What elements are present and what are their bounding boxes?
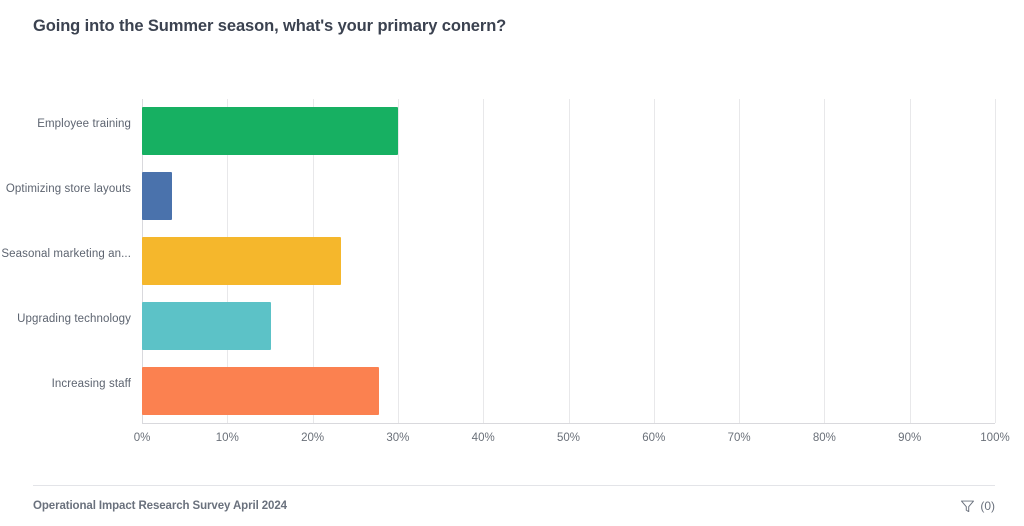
x-tick-label: 100% [980,432,1009,444]
category-label: Increasing staff [0,377,131,391]
gridline [995,99,996,423]
filter-count-label: (0) [980,499,995,513]
bar-row [142,237,995,285]
category-label: Seasonal marketing an... [0,247,131,261]
category-label: Optimizing store layouts [0,182,131,196]
bar[interactable] [142,367,379,415]
bar[interactable] [142,302,271,350]
x-tick-label: 10% [216,432,239,444]
chart-footer: Operational Impact Research Survey April… [33,485,995,526]
bar-row [142,367,995,415]
x-tick-label: 0% [134,432,151,444]
plot-area [142,99,995,423]
x-tick-label: 90% [898,432,921,444]
x-tick-label: 70% [728,432,751,444]
x-tick-label: 40% [472,432,495,444]
x-tick-label: 20% [301,432,324,444]
survey-source-label: Operational Impact Research Survey April… [33,500,287,512]
bar-series [142,99,995,423]
category-label: Upgrading technology [0,312,131,326]
bar[interactable] [142,237,341,285]
bar-row [142,107,995,155]
x-tick-label: 80% [813,432,836,444]
x-tick-label: 50% [557,432,580,444]
bar-row [142,172,995,220]
bar-chart: Employee trainingOptimizing store layout… [0,0,1024,470]
filter-control[interactable]: (0) [960,499,995,514]
x-tick-label: 30% [386,432,409,444]
x-axis-line [142,423,995,424]
bar[interactable] [142,172,172,220]
x-tick-label: 60% [642,432,665,444]
filter-funnel-icon[interactable] [960,499,975,514]
x-axis-tick-labels: 0%10%20%30%40%50%60%70%80%90%100% [0,432,1024,452]
bar[interactable] [142,107,398,155]
bar-row [142,302,995,350]
category-label: Employee training [0,117,131,131]
y-axis-category-labels: Employee trainingOptimizing store layout… [0,99,131,423]
